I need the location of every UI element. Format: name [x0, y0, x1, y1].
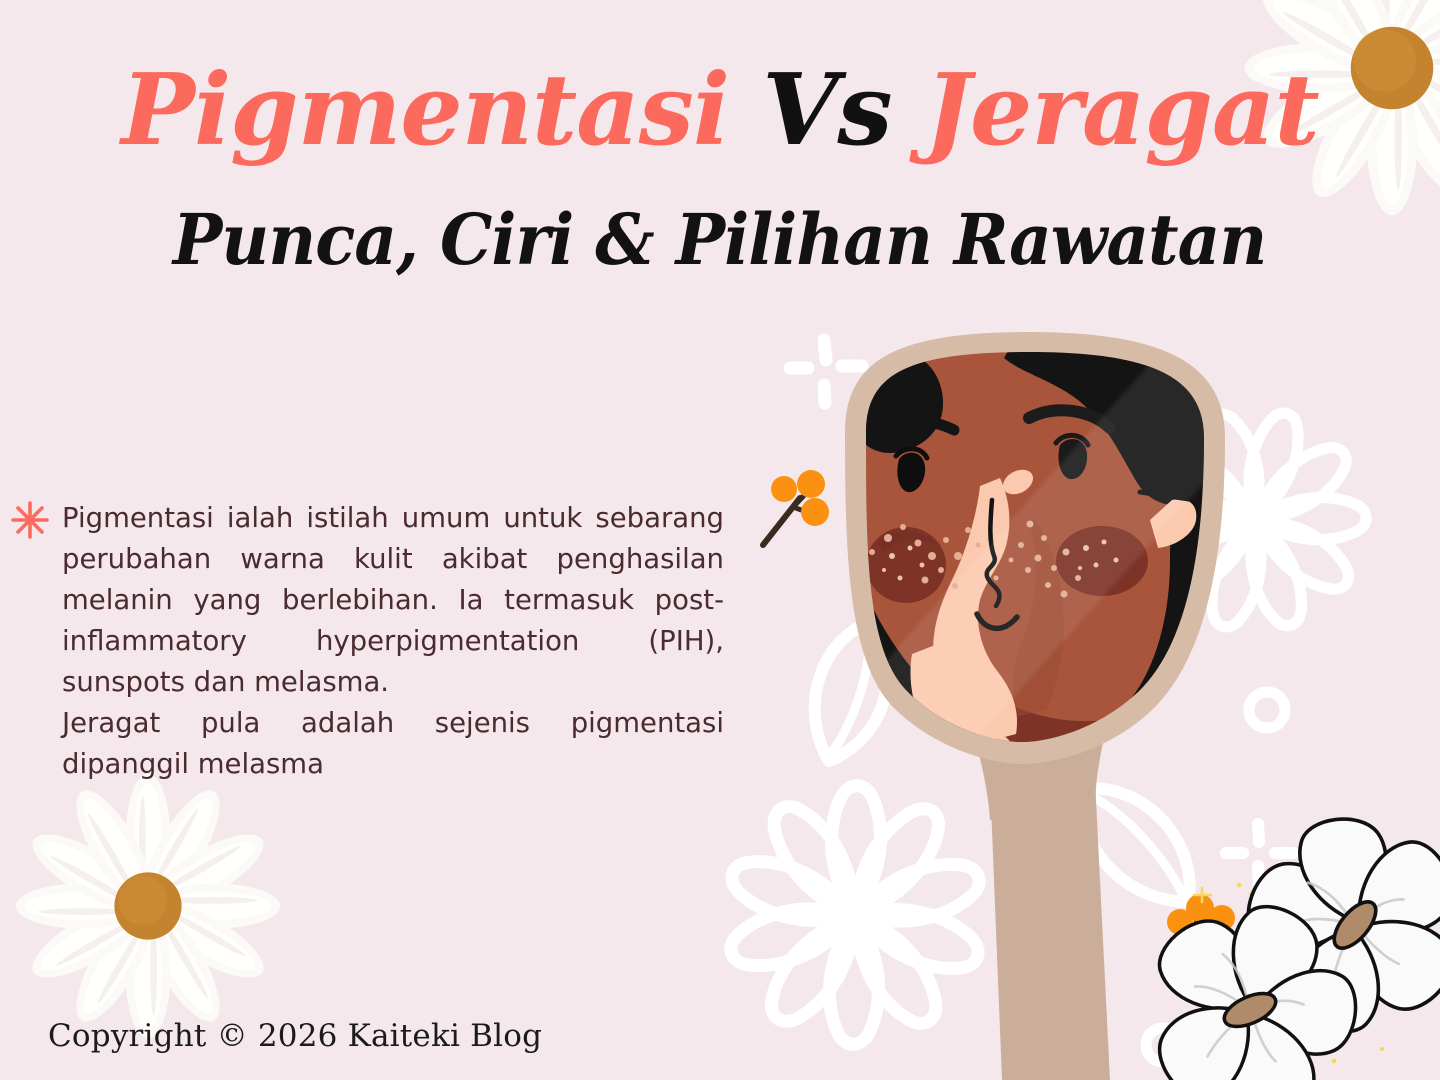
face-highlight — [933, 478, 1017, 742]
neck-shadow — [990, 700, 1168, 768]
poster-canvas: Pigmentasi Vs Jeragat Punca, Ciri & Pili… — [0, 0, 1440, 1080]
body-paragraph-1: Pigmentasi ialah istilah umum untuk seba… — [62, 498, 724, 703]
ear — [1150, 499, 1196, 548]
eye-right — [1056, 435, 1088, 479]
page-title: Pigmentasi Vs Jeragat — [0, 62, 1440, 160]
outline-leaf-left — [796, 611, 906, 771]
mirror-handle-neck — [968, 660, 1112, 820]
mirror-frame — [845, 332, 1225, 764]
sparkle-plus-top — [790, 340, 862, 403]
title-part-pigmentasi: Pigmentasi — [121, 53, 762, 168]
yellow-sparkle — [1194, 888, 1355, 1026]
page-subtitle: Punca, Ciri & Pilihan Rawatan — [0, 205, 1440, 275]
body-paragraph-2: Jeragat pula adalah sejenis pigmentasi d… — [62, 703, 724, 785]
hair-left — [856, 348, 943, 453]
ink-flower-bottom-right-a — [1215, 786, 1440, 1065]
chin-highlight — [910, 640, 1014, 762]
nose-highlight — [999, 465, 1038, 499]
white-ring-circle — [1249, 692, 1285, 728]
eye-left — [896, 449, 927, 492]
melasma-patch-left — [866, 527, 946, 603]
melasma-patch-right — [1056, 526, 1148, 596]
subtitle-text: Punca, Ciri & Pilihan Rawatan — [173, 205, 1266, 275]
freckle-dots-on-patches — [882, 540, 1119, 581]
outline-daisy-right — [1143, 408, 1367, 633]
painted-daisy-bottom-left — [16, 774, 280, 1038]
cheek-fold-right — [1013, 518, 1063, 716]
hair-left-strand — [866, 606, 1010, 760]
melasma-patch-left-shade — [876, 531, 942, 552]
hair-top-right — [1004, 330, 1216, 505]
hair-right-side — [1130, 470, 1216, 730]
mouth — [977, 614, 1017, 628]
ink-flower-bottom-right-b — [1131, 887, 1369, 1080]
ear-line — [1140, 492, 1196, 500]
mirror-face-portrait — [840, 330, 1240, 780]
mirror-handle — [986, 680, 1110, 1080]
outline-daisy-bottom-center — [724, 786, 986, 1045]
body-copy: Pigmentasi ialah istilah umum untuk seba… — [62, 498, 724, 785]
orange-berry-sprig-bottom-right — [1167, 883, 1384, 1064]
asterisk-star-icon — [10, 500, 50, 540]
orange-berry-sprig-left — [763, 470, 829, 545]
yellow-sparkle-dots — [1230, 883, 1384, 1064]
eyebrow-left — [880, 421, 954, 432]
copyright-text: Copyright © 2026 Kaiteki Blog — [48, 1018, 542, 1054]
sparkle-plus-bottom-right — [1226, 824, 1293, 884]
nose-line — [987, 500, 1000, 606]
title-part-jeragat: Jeragat — [925, 53, 1319, 168]
white-ring-circle-2 — [1146, 1028, 1180, 1062]
freckle-dots — [869, 521, 1081, 598]
eyebrow-right — [1029, 410, 1110, 428]
title-part-vs: Vs — [762, 53, 924, 168]
outline-leaf-right — [1059, 764, 1215, 926]
